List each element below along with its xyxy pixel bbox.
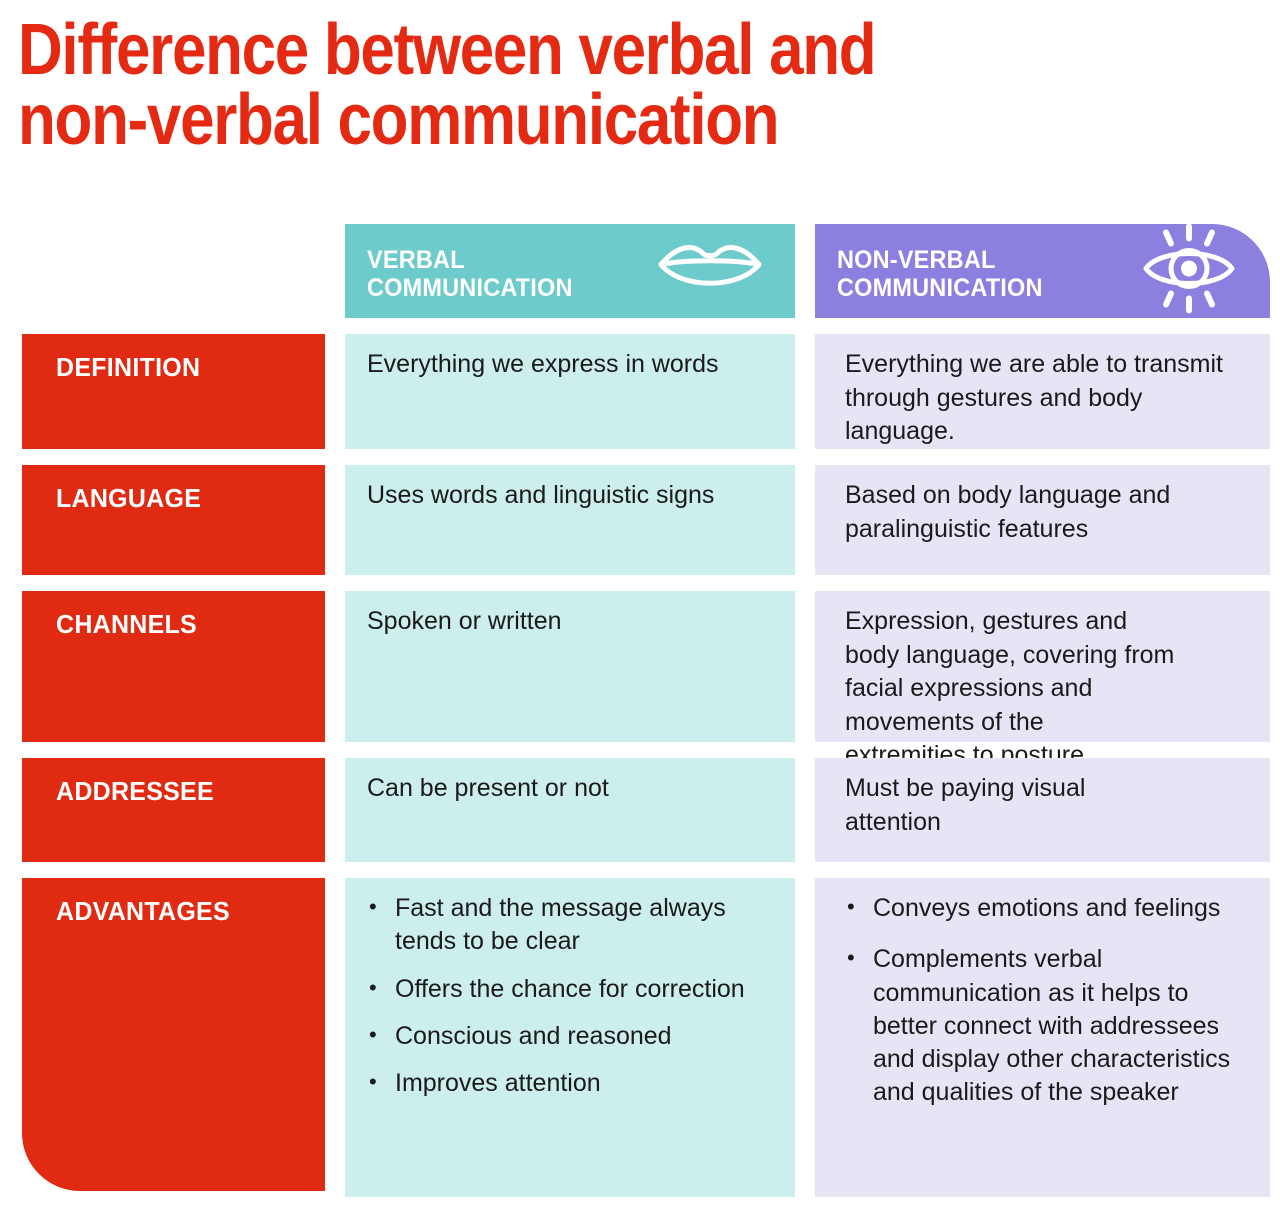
cell-text: Spoken or written [367,605,781,639]
list-item: Fast and the message always tends to be … [367,892,781,959]
list-item: Offers the chance for correction [367,973,781,1006]
cell-text: Expression, gestures and body language, … [845,605,1256,773]
list-item: Improves attention [367,1067,781,1100]
advantages-verbal-list: Fast and the message always tends to be … [367,892,781,1100]
column-header-verbal-label: VERBAL COMMUNICATION [367,246,573,302]
cell-language-nonverbal: Based on body language and paralinguisti… [815,465,1270,575]
list-item: Conscious and reasoned [367,1020,781,1053]
cell-text: Based on body language and paralinguisti… [845,479,1256,546]
cell-text: Everything we are able to transmit throu… [845,348,1256,449]
header-corner-blank [0,216,335,326]
cell-channels-verbal: Spoken or written [345,591,795,742]
row-label-text: ADVANTAGES [56,896,230,927]
page-title: Difference between verbal and non-verbal… [18,16,1050,156]
column-header-nonverbal-label: NON-VERBAL COMMUNICATION [837,246,1043,302]
cell-addressee-verbal: Can be present or not [345,758,795,862]
row-label-text: CHANNELS [56,609,197,640]
cell-advantages-verbal: Fast and the message always tends to be … [345,878,795,1197]
cell-advantages-nonverbal: Conveys emotions and feelingsComplements… [815,878,1270,1197]
lips-icon [655,238,765,305]
cell-language-verbal: Uses words and linguistic signs [345,465,795,575]
infographic-page: Difference between verbal and non-verbal… [0,0,1280,1216]
row-label-addressee: ADDRESSEE [22,758,325,862]
row-label-text: ADDRESSEE [56,776,214,807]
row-label-text: DEFINITION [56,352,200,383]
cell-definition-verbal: Everything we express in words [345,334,795,449]
list-item: Conveys emotions and feelings [845,892,1256,925]
cell-text: Everything we express in words [367,348,781,382]
row-label-text: LANGUAGE [56,483,201,514]
column-header-verbal: VERBAL COMMUNICATION [345,224,795,318]
cell-channels-nonverbal: Expression, gestures and body language, … [815,591,1270,742]
list-item: Complements verbal communication as it h… [845,943,1256,1109]
comparison-table: VERBAL COMMUNICATION NON-VERBAL COMMUNIC… [0,216,1280,1216]
cell-text: Must be paying visual attention [845,772,1256,839]
advantages-nonverbal-list: Conveys emotions and feelingsComplements… [845,892,1256,1110]
row-label-channels: CHANNELS [22,591,325,742]
cell-addressee-nonverbal: Must be paying visual attention [815,758,1270,862]
row-label-definition: DEFINITION [22,334,325,449]
cell-definition-nonverbal: Everything we are able to transmit throu… [815,334,1270,449]
column-header-nonverbal: NON-VERBAL COMMUNICATION [815,224,1270,318]
row-label-advantages: ADVANTAGES [22,878,325,1191]
row-label-language: LANGUAGE [22,465,325,575]
eye-icon [1140,221,1238,322]
cell-text: Uses words and linguistic signs [367,479,781,513]
cell-text: Can be present or not [367,772,781,806]
